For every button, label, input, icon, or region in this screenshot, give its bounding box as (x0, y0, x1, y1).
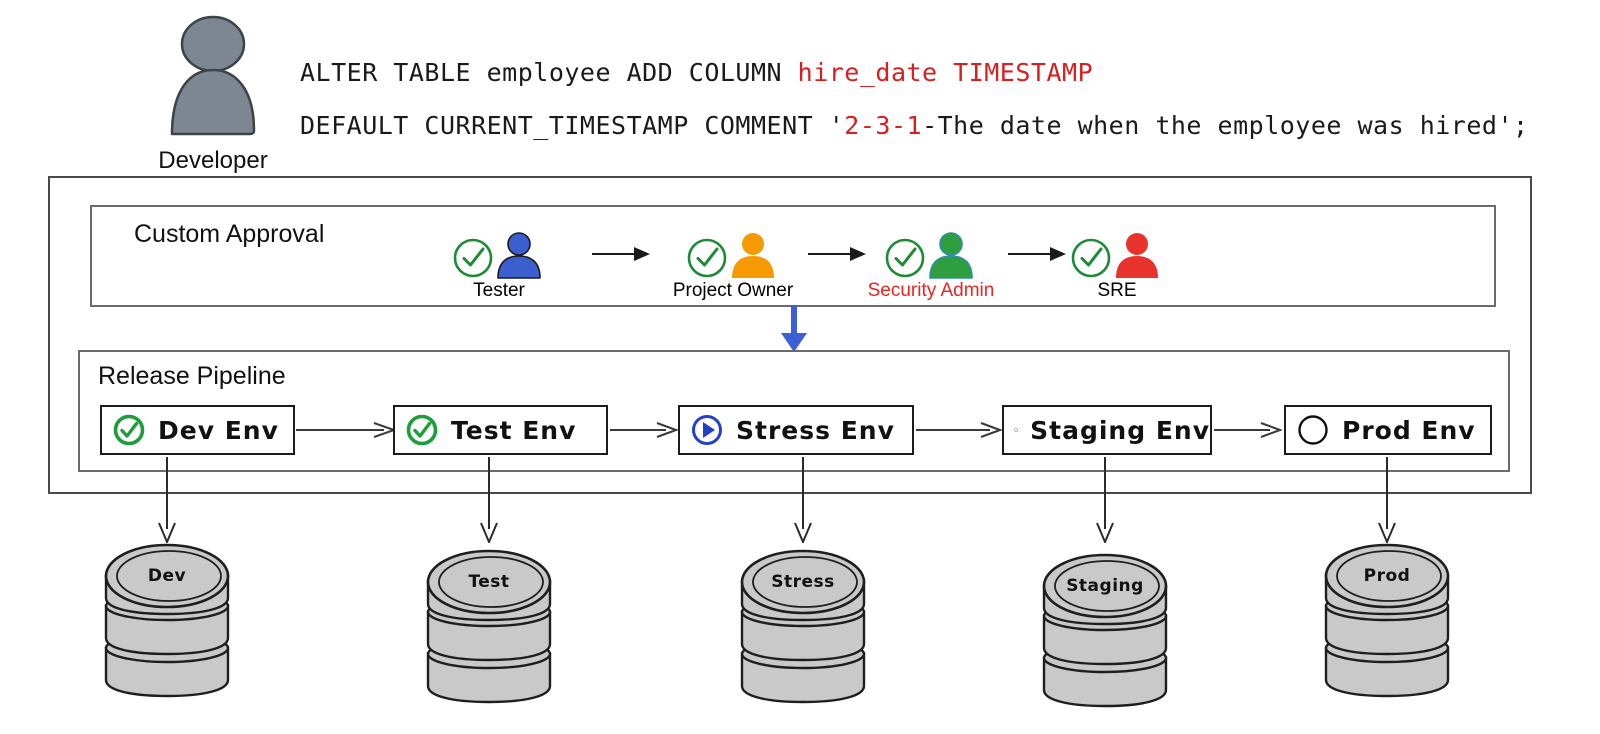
approver-security-admin[interactable]: Security Admin (856, 232, 1006, 302)
sql-line1-prefix: ALTER TABLE employee ADD COLUMN (300, 58, 798, 87)
sql-line-2: DEFAULT CURRENT_TIMESTAMP COMMENT '2-3-1… (300, 99, 1500, 152)
approver-name: SRE (1042, 280, 1192, 302)
empty-circle-icon (1296, 413, 1330, 447)
sql-line2-suffix: -The date when the employee was hired'; (922, 111, 1529, 140)
database-icon (1030, 548, 1180, 708)
database-icon (728, 544, 878, 704)
drop-arrow-stress-icon (792, 457, 814, 543)
check-circle-icon (883, 236, 927, 280)
arrow-down-icon (776, 305, 812, 353)
person-icon (725, 232, 781, 280)
approver-name: Project Owner (658, 280, 808, 302)
developer-group: Developer (148, 14, 278, 175)
pipeline-stage-label: Staging Env (1030, 416, 1210, 445)
check-circle-icon (451, 236, 495, 280)
database-staging[interactable]: Staging (1030, 548, 1180, 708)
pipeline-stage-dev-env[interactable]: Dev Env (100, 405, 295, 455)
pipeline-stage-test-env[interactable]: Test Env (393, 405, 608, 455)
database-test[interactable]: Test (414, 544, 564, 704)
database-stress[interactable]: Stress (728, 544, 878, 704)
pipeline-stage-staging-env[interactable]: Staging Env (1002, 405, 1212, 455)
approver-icons (685, 232, 781, 278)
person-icon (491, 232, 547, 280)
pipeline-arrow-2-icon (610, 422, 678, 438)
pipeline-stage-label: Test Env (451, 416, 576, 445)
sql-statement: ALTER TABLE employee ADD COLUMN hire_dat… (300, 46, 1500, 152)
check-circle-icon (112, 413, 146, 447)
person-icon (1109, 232, 1165, 280)
pipeline-stage-prod-env[interactable]: Prod Env (1284, 405, 1492, 455)
pipeline-stage-label: Dev Env (158, 416, 279, 445)
approver-sre[interactable]: SRE (1042, 232, 1192, 302)
pipeline-stage-label: Prod Env (1342, 416, 1476, 445)
database-dev[interactable]: Dev (92, 538, 242, 698)
sql-line-1: ALTER TABLE employee ADD COLUMN hire_dat… (300, 46, 1500, 99)
approver-name: Security Admin (856, 280, 1006, 302)
drop-arrow-staging-icon (1094, 457, 1116, 543)
sql-line1-highlight: hire_date TIMESTAMP (798, 58, 1093, 87)
user-icon (158, 14, 268, 138)
custom-approval-title: Custom Approval (134, 220, 324, 249)
database-icon (1312, 538, 1462, 698)
release-pipeline-title: Release Pipeline (98, 362, 286, 391)
developer-label: Developer (148, 147, 278, 175)
drop-arrow-test-icon (478, 457, 500, 543)
pipeline-arrow-1-icon (296, 422, 396, 438)
approval-arrow-1-icon (592, 245, 652, 263)
database-icon (92, 538, 242, 698)
approver-icons (451, 232, 547, 278)
play-circle-icon (690, 413, 724, 447)
drop-arrow-dev-icon (156, 457, 178, 543)
drop-arrow-prod-icon (1376, 457, 1398, 543)
approver-icons (1069, 232, 1165, 278)
pipeline-arrow-4-icon (1214, 422, 1282, 438)
check-circle-icon (685, 236, 729, 280)
pipeline-stage-stress-env[interactable]: Stress Env (678, 405, 914, 455)
approver-name: Tester (424, 280, 574, 302)
pipeline-stage-label: Stress Env (736, 416, 895, 445)
check-circle-icon (1069, 236, 1113, 280)
empty-circle-icon (1014, 413, 1018, 447)
check-circle-icon (405, 413, 439, 447)
approver-icons (883, 232, 979, 278)
approver-tester[interactable]: Tester (424, 232, 574, 302)
approver-project-owner[interactable]: Project Owner (658, 232, 808, 302)
pipeline-arrow-3-icon (916, 422, 1002, 438)
database-icon (414, 544, 564, 704)
diagram-canvas: Developer ALTER TABLE employee ADD COLUM… (0, 0, 1600, 734)
sql-line2-prefix: DEFAULT CURRENT_TIMESTAMP COMMENT ' (300, 111, 844, 140)
person-icon (923, 232, 979, 280)
database-prod[interactable]: Prod (1312, 538, 1462, 698)
sql-line2-highlight: 2-3-1 (844, 111, 922, 140)
